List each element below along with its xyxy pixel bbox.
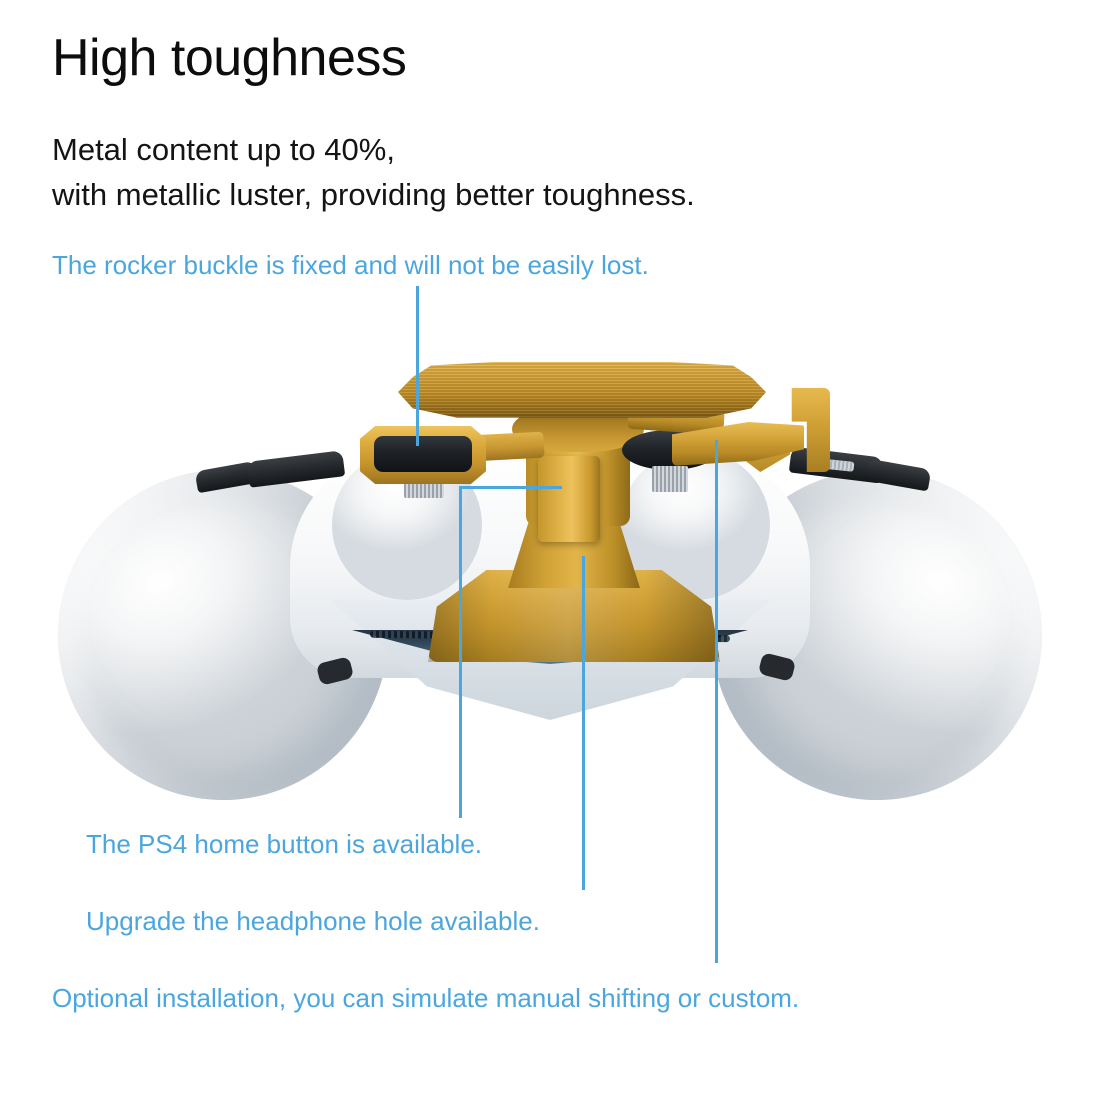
caption-headphone-hole: Upgrade the headphone hole available. — [86, 906, 540, 937]
page-subtitle: Metal content up to 40%, with metallic l… — [52, 128, 695, 218]
subtitle-line-2: with metallic luster, providing better t… — [52, 173, 695, 218]
leader-line-optional-installation — [715, 440, 718, 963]
right-stick-shaft — [652, 466, 688, 492]
product-image — [0, 330, 1100, 830]
caption-home-button: The PS4 home button is available. — [86, 829, 482, 860]
steering-wheel-disc — [398, 362, 766, 420]
caption-rocker-buckle: The rocker buckle is fixed and will not … — [52, 250, 649, 281]
rocker-buckle-inner — [374, 436, 472, 472]
leader-line-rocker-buckle — [416, 286, 419, 446]
leader-line-home-button — [459, 486, 462, 818]
infographic-page: High toughness Metal content up to 40%, … — [0, 0, 1100, 1100]
leader-line-headphone-hole — [582, 556, 585, 890]
page-title: High toughness — [52, 28, 406, 88]
leader-line-shifter-horizontal — [460, 486, 562, 489]
caption-optional-installation: Optional installation, you can simulate … — [52, 983, 799, 1014]
shifter-tab — [538, 456, 600, 542]
subtitle-line-1: Metal content up to 40%, — [52, 128, 695, 173]
